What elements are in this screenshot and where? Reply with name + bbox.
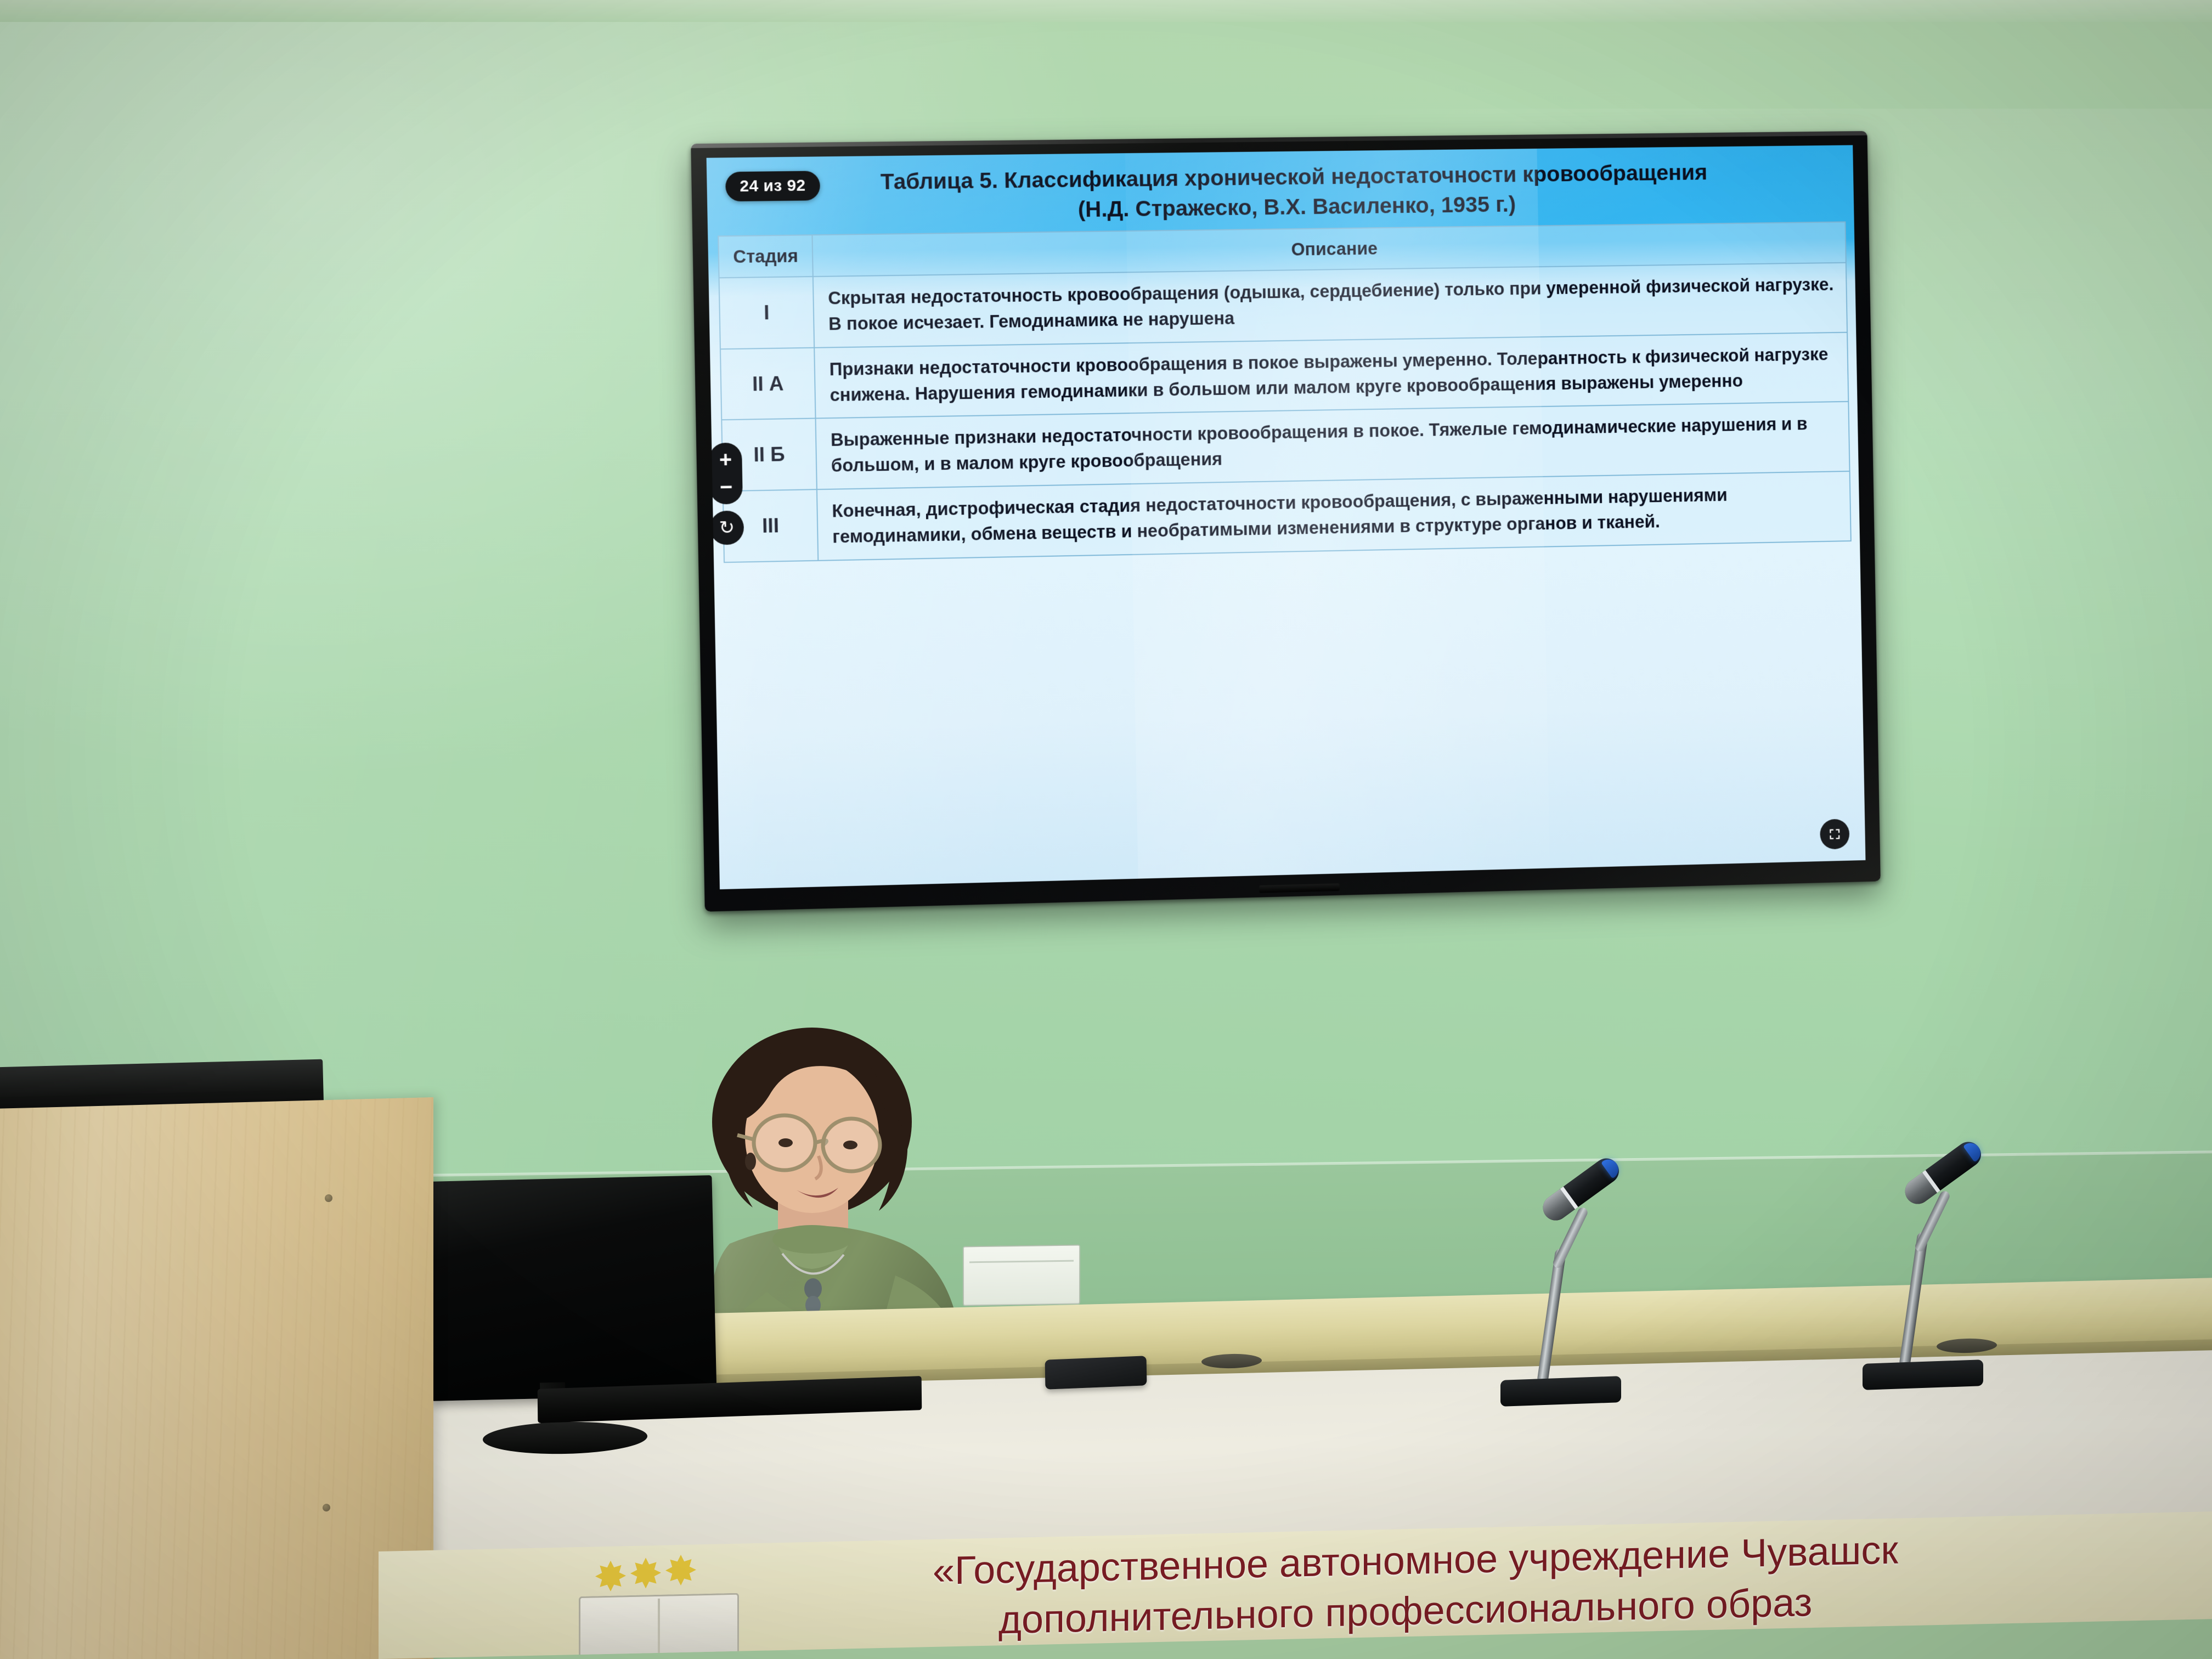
wall-mounted-tv[interactable]: 24 из 92 + − ↻ Таблица 5 (691, 131, 1881, 912)
rotate-icon[interactable]: ↻ (709, 510, 744, 545)
institution-emblem (573, 1554, 738, 1656)
gooseneck-microphone-right (1846, 1147, 2044, 1388)
star-icon (665, 1554, 696, 1585)
cell-stage: I (719, 276, 815, 349)
mic-neck-lower (1899, 1232, 1928, 1368)
mic-grille (1538, 1188, 1576, 1226)
tv-ir-receiver (1259, 883, 1339, 893)
column-header-stage: Стадия (718, 235, 813, 278)
presenter-monitor[interactable] (427, 1175, 717, 1401)
slide-title: Таблица 5. Классификация хронической нед… (707, 156, 1854, 229)
zoom-in-icon[interactable]: + (709, 446, 742, 474)
podium-wood-grain (0, 1097, 433, 1659)
zoom-out-icon[interactable]: − (709, 473, 743, 501)
zoom-button-stack[interactable]: + − (709, 443, 743, 505)
smartphone[interactable] (1045, 1356, 1147, 1389)
gooseneck-microphone-left (1484, 1163, 1681, 1404)
mic-grille (1900, 1172, 1938, 1209)
table-body: I Скрытая недостаточность кровообращения… (719, 263, 1851, 562)
tv-screen[interactable]: 24 из 92 + − ↻ Таблица 5 (707, 145, 1866, 890)
mic-neck-lower (1537, 1248, 1566, 1384)
lecture-hall-scene: 24 из 92 + − ↻ Таблица 5 (0, 0, 2212, 1659)
mic-base (1863, 1359, 1983, 1390)
star-icon (630, 1558, 661, 1589)
wooden-podium (0, 1097, 433, 1659)
presentation-slide: 24 из 92 + − ↻ Таблица 5 (707, 145, 1866, 890)
star-icon (595, 1560, 626, 1592)
classification-table: Стадия Описание I Скрытая недостаточност… (718, 221, 1852, 563)
page-indicator-badge: 24 из 92 (725, 171, 820, 201)
cell-stage: II А (720, 348, 816, 420)
open-book-icon (579, 1593, 739, 1658)
ceiling-strip (0, 0, 2212, 22)
viewer-zoom-controls[interactable]: + − ↻ (708, 443, 744, 545)
fullscreen-icon[interactable] (1820, 819, 1849, 849)
mic-base (1500, 1376, 1621, 1407)
